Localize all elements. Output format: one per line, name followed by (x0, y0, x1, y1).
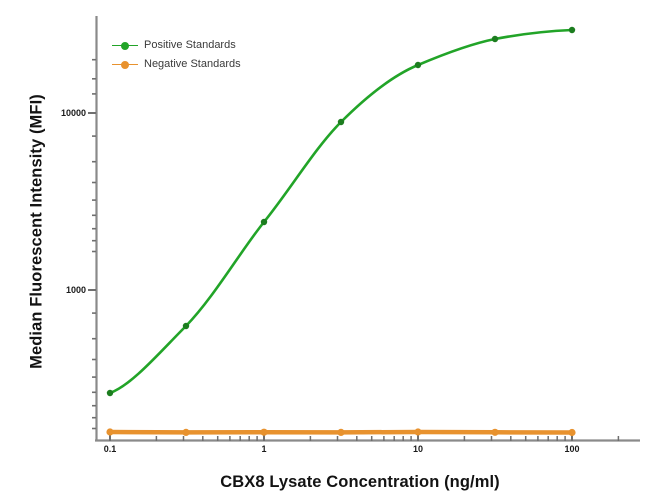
x-tick-label-0.1: 0.1 (104, 444, 117, 454)
chart-legend: Positive Standards Negative Standards (112, 38, 241, 71)
x-tick-label-1: 1 (261, 444, 266, 454)
legend-marker-positive-icon (112, 40, 138, 51)
legend-marker-negative-icon (112, 59, 138, 70)
legend-label-negative-standards: Negative Standards (144, 58, 241, 70)
x-axis-title: CBX8 Lysate Concentration (ng/ml) (96, 473, 624, 492)
y-major-ticks (88, 113, 96, 290)
x-tick-label-100: 100 (564, 444, 579, 454)
y-tick-label-1000: 1000 (56, 285, 86, 295)
x-tick-label-10: 10 (413, 444, 423, 454)
legend-item-positive-standards: Positive Standards (112, 38, 241, 52)
plot-background (96, 16, 624, 440)
legend-item-negative-standards: Negative Standards (112, 57, 241, 71)
legend-label-positive-standards: Positive Standards (144, 39, 236, 51)
chart-figure: Median Fluorescent Intensity (MFI) (0, 0, 650, 504)
plot-area (0, 0, 650, 504)
y-tick-label-10000: 10000 (56, 108, 86, 118)
